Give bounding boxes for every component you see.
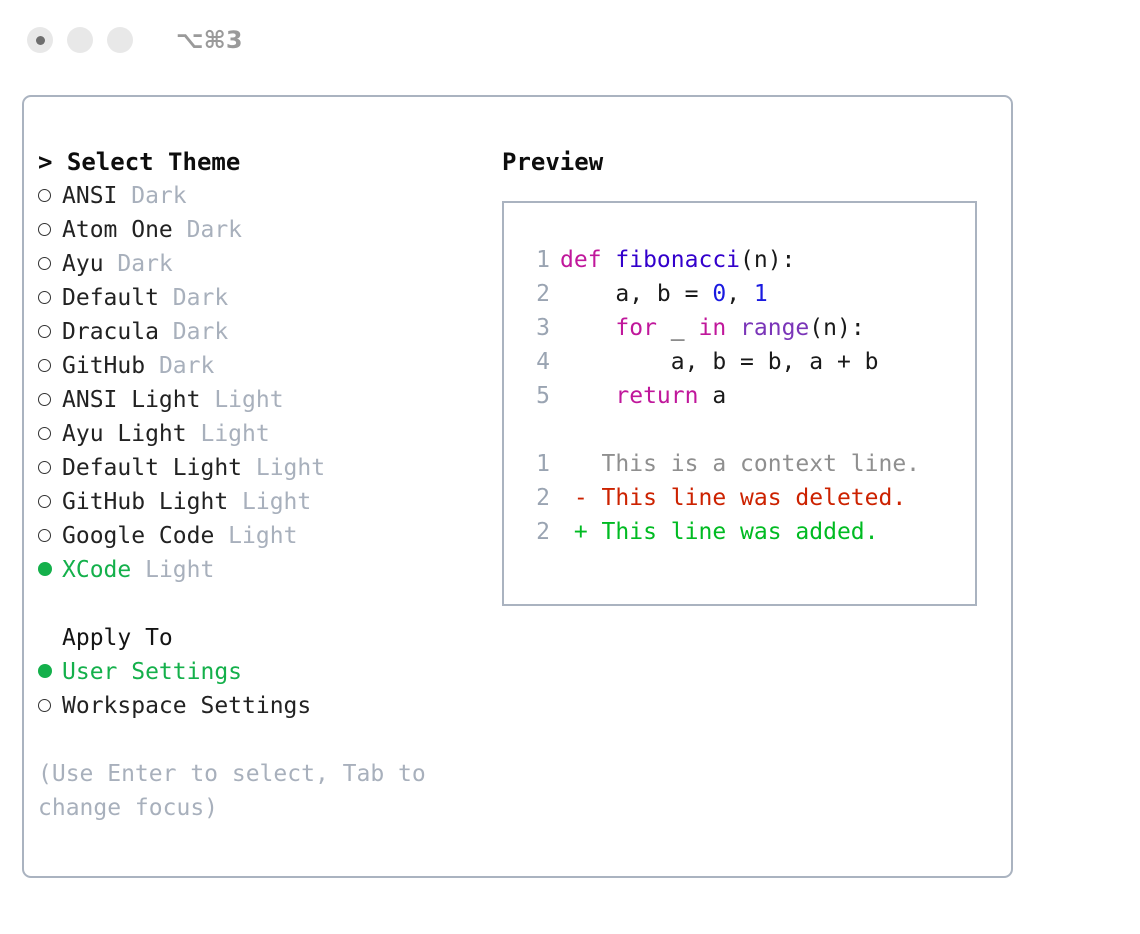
theme-item-variant: Light bbox=[200, 387, 283, 413]
radio-empty-icon bbox=[38, 495, 51, 508]
theme-item-label: Default bbox=[62, 285, 159, 311]
radio-empty-icon bbox=[38, 427, 51, 440]
window-controls bbox=[27, 27, 133, 53]
code-line-number: 2 bbox=[520, 277, 550, 311]
theme-item-variant: Dark bbox=[117, 183, 186, 209]
code-line-number: 4 bbox=[520, 345, 550, 379]
code-line: 1def fibonacci(n): bbox=[504, 243, 975, 277]
theme-item-label: Atom One bbox=[62, 217, 173, 243]
theme-item-5[interactable]: GitHub Dark bbox=[38, 349, 498, 383]
code-line: 5 return a bbox=[504, 379, 975, 413]
apply-to-option-0[interactable]: User Settings bbox=[38, 655, 498, 689]
code-token-pun: a, b = b, a + b bbox=[560, 349, 879, 375]
apply-to-option-1[interactable]: Workspace Settings bbox=[38, 689, 498, 723]
theme-item-0[interactable]: ANSI Dark bbox=[38, 179, 498, 213]
code-token-pun bbox=[560, 315, 615, 341]
theme-item-1[interactable]: Atom One Dark bbox=[38, 213, 498, 247]
theme-item-10[interactable]: Google Code Light bbox=[38, 519, 498, 553]
code-token-pun: a, b = bbox=[560, 281, 712, 307]
theme-item-label: ANSI Light bbox=[62, 387, 200, 413]
code-line: 2 a, b = 0, 1 bbox=[504, 277, 975, 311]
diff-line-number: 2 bbox=[520, 515, 550, 549]
code-token-kw: in bbox=[698, 315, 726, 341]
theme-item-variant: Light bbox=[228, 489, 311, 515]
radio-selected-icon bbox=[38, 562, 52, 576]
apply-to-option-label: Workspace Settings bbox=[62, 693, 311, 719]
code-token-pun bbox=[560, 383, 615, 409]
theme-item-9[interactable]: GitHub Light Light bbox=[38, 485, 498, 519]
select-theme-header: > Select Theme bbox=[38, 145, 498, 179]
theme-item-label: Dracula bbox=[62, 319, 159, 345]
theme-item-4[interactable]: Dracula Dark bbox=[38, 315, 498, 349]
radio-empty-icon bbox=[38, 529, 51, 542]
code-line-number: 5 bbox=[520, 379, 550, 413]
window-dot-active-icon[interactable] bbox=[27, 27, 53, 53]
theme-item-variant: Light bbox=[187, 421, 270, 447]
theme-item-label: Ayu bbox=[62, 251, 104, 277]
theme-item-variant: Dark bbox=[159, 319, 228, 345]
radio-empty-icon bbox=[38, 393, 51, 406]
diff-line: 1 This is a context line. bbox=[504, 447, 975, 481]
theme-item-label: Ayu Light bbox=[62, 421, 187, 447]
theme-item-2[interactable]: Ayu Dark bbox=[38, 247, 498, 281]
radio-empty-icon bbox=[38, 291, 51, 304]
code-token-call: range bbox=[740, 315, 809, 341]
diff-line-text: - This line was deleted. bbox=[560, 485, 906, 511]
theme-item-label: GitHub Light bbox=[62, 489, 228, 515]
theme-item-7[interactable]: Ayu Light Light bbox=[38, 417, 498, 451]
preview-title: Preview bbox=[502, 145, 1002, 179]
preview-code-box: 1def fibonacci(n):2 a, b = 0, 13 for _ i… bbox=[502, 201, 977, 606]
diff-line-number: 1 bbox=[520, 447, 550, 481]
diff-line-text: This is a context line. bbox=[560, 451, 920, 477]
apply-to-title: Apply To bbox=[38, 621, 498, 655]
theme-item-8[interactable]: Default Light Light bbox=[38, 451, 498, 485]
code-token-pun bbox=[726, 315, 740, 341]
window-dot-icon[interactable] bbox=[67, 27, 93, 53]
preview-column: Preview 1def fibonacci(n):2 a, b = 0, 13… bbox=[502, 145, 1002, 606]
code-sample: 1def fibonacci(n):2 a, b = 0, 13 for _ i… bbox=[504, 243, 975, 413]
keyboard-hint: (Use Enter to select, Tab to change focu… bbox=[38, 757, 453, 825]
theme-item-label: Google Code bbox=[62, 523, 214, 549]
code-line-number: 1 bbox=[520, 243, 550, 277]
theme-item-variant: Dark bbox=[145, 353, 214, 379]
radio-selected-icon bbox=[38, 664, 52, 678]
code-token-num: 1 bbox=[754, 281, 768, 307]
theme-item-11[interactable]: XCode Light bbox=[38, 553, 498, 587]
radio-empty-icon bbox=[38, 461, 51, 474]
main-panel: > Select Theme ANSI DarkAtom One DarkAyu… bbox=[22, 95, 1013, 878]
theme-item-label: Default Light bbox=[62, 455, 242, 481]
apply-to-list[interactable]: User SettingsWorkspace Settings bbox=[38, 655, 498, 723]
code-token-num: 0 bbox=[712, 281, 726, 307]
diff-line-text: + This line was added. bbox=[560, 519, 879, 545]
theme-item-label: GitHub bbox=[62, 353, 145, 379]
theme-item-variant: Dark bbox=[159, 285, 228, 311]
code-token-pun: _ bbox=[657, 315, 699, 341]
theme-item-variant: Dark bbox=[104, 251, 173, 277]
theme-item-variant: Light bbox=[131, 557, 214, 583]
radio-empty-icon bbox=[38, 359, 51, 372]
code-token-pun: (n): bbox=[809, 315, 864, 341]
radio-empty-icon bbox=[38, 189, 51, 202]
radio-empty-icon bbox=[38, 223, 51, 236]
code-token-pun: a bbox=[698, 383, 726, 409]
diff-line: 2 + This line was added. bbox=[504, 515, 975, 549]
diff-sample: 1 This is a context line.2 - This line w… bbox=[504, 447, 975, 549]
title-bar: ⌥⌘3 bbox=[0, 0, 1140, 80]
keyboard-shortcut-label: ⌥⌘3 bbox=[176, 26, 243, 54]
theme-item-6[interactable]: ANSI Light Light bbox=[38, 383, 498, 417]
theme-item-label: XCode bbox=[62, 557, 131, 583]
code-token-kw: def bbox=[560, 247, 615, 273]
code-line-number: 3 bbox=[520, 311, 550, 345]
window-dot-icon-2[interactable] bbox=[107, 27, 133, 53]
code-token-fn: fibonacci bbox=[615, 247, 740, 273]
theme-item-variant: Light bbox=[242, 455, 325, 481]
radio-empty-icon bbox=[38, 699, 51, 712]
theme-item-label: ANSI bbox=[62, 183, 117, 209]
theme-list[interactable]: ANSI DarkAtom One DarkAyu DarkDefault Da… bbox=[38, 179, 498, 587]
apply-to-option-label: User Settings bbox=[62, 659, 242, 685]
app-window: ⌥⌘3 > Select Theme ANSI DarkAtom One Dar… bbox=[0, 0, 1140, 934]
theme-selector-column: > Select Theme ANSI DarkAtom One DarkAyu… bbox=[38, 145, 498, 825]
radio-empty-icon bbox=[38, 257, 51, 270]
theme-item-variant: Light bbox=[214, 523, 297, 549]
theme-item-variant: Dark bbox=[173, 217, 242, 243]
theme-item-3[interactable]: Default Dark bbox=[38, 281, 498, 315]
code-token-pun: , bbox=[726, 281, 754, 307]
code-token-pun: (n): bbox=[740, 247, 795, 273]
diff-line: 2 - This line was deleted. bbox=[504, 481, 975, 515]
code-line: 3 for _ in range(n): bbox=[504, 311, 975, 345]
code-token-kw: return bbox=[615, 383, 698, 409]
diff-line-number: 2 bbox=[520, 481, 550, 515]
radio-empty-icon bbox=[38, 325, 51, 338]
code-token-kw: for bbox=[615, 315, 657, 341]
code-line: 4 a, b = b, a + b bbox=[504, 345, 975, 379]
